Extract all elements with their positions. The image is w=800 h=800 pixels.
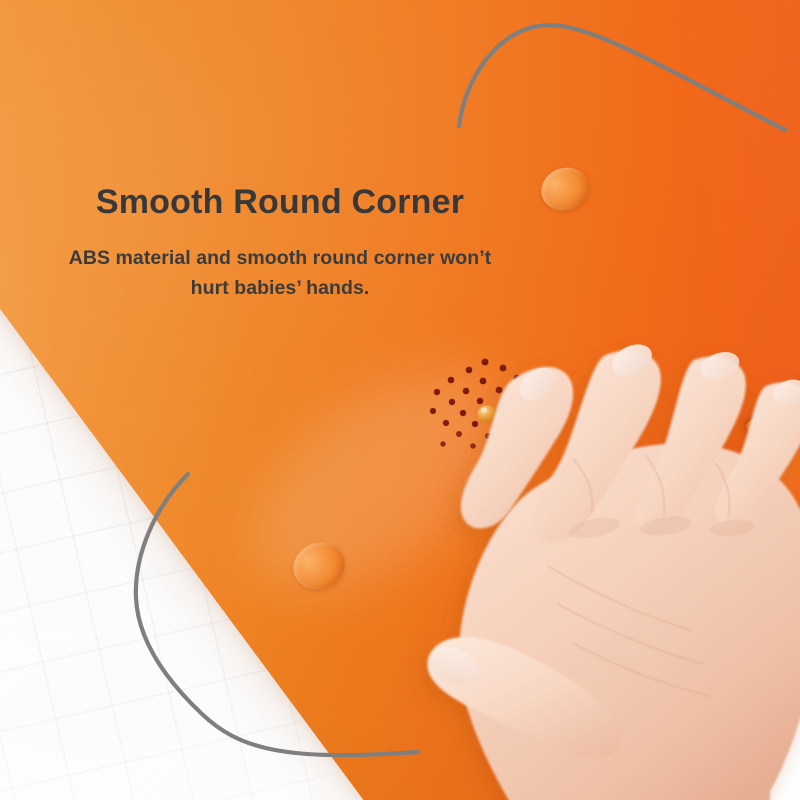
product-photo	[0, 0, 800, 800]
caption-subtitle-line-1: ABS material and smooth round corner won…	[0, 244, 560, 274]
speaker-hole-cluster	[425, 358, 545, 456]
product-feature-banner: Smooth Round Corner ABS material and smo…	[0, 0, 800, 800]
caption-block: Smooth Round Corner ABS material and smo…	[0, 183, 560, 304]
caption-subtitle: ABS material and smooth round corner won…	[0, 244, 560, 303]
caption-subtitle-line-2: hurt babies’ hands.	[0, 274, 560, 304]
page-title: Smooth Round Corner	[0, 183, 560, 222]
tablet-vignette	[0, 0, 800, 800]
tablet-back-panel	[0, 0, 800, 800]
camera-dome	[478, 406, 497, 423]
speaker-holes	[430, 359, 533, 450]
